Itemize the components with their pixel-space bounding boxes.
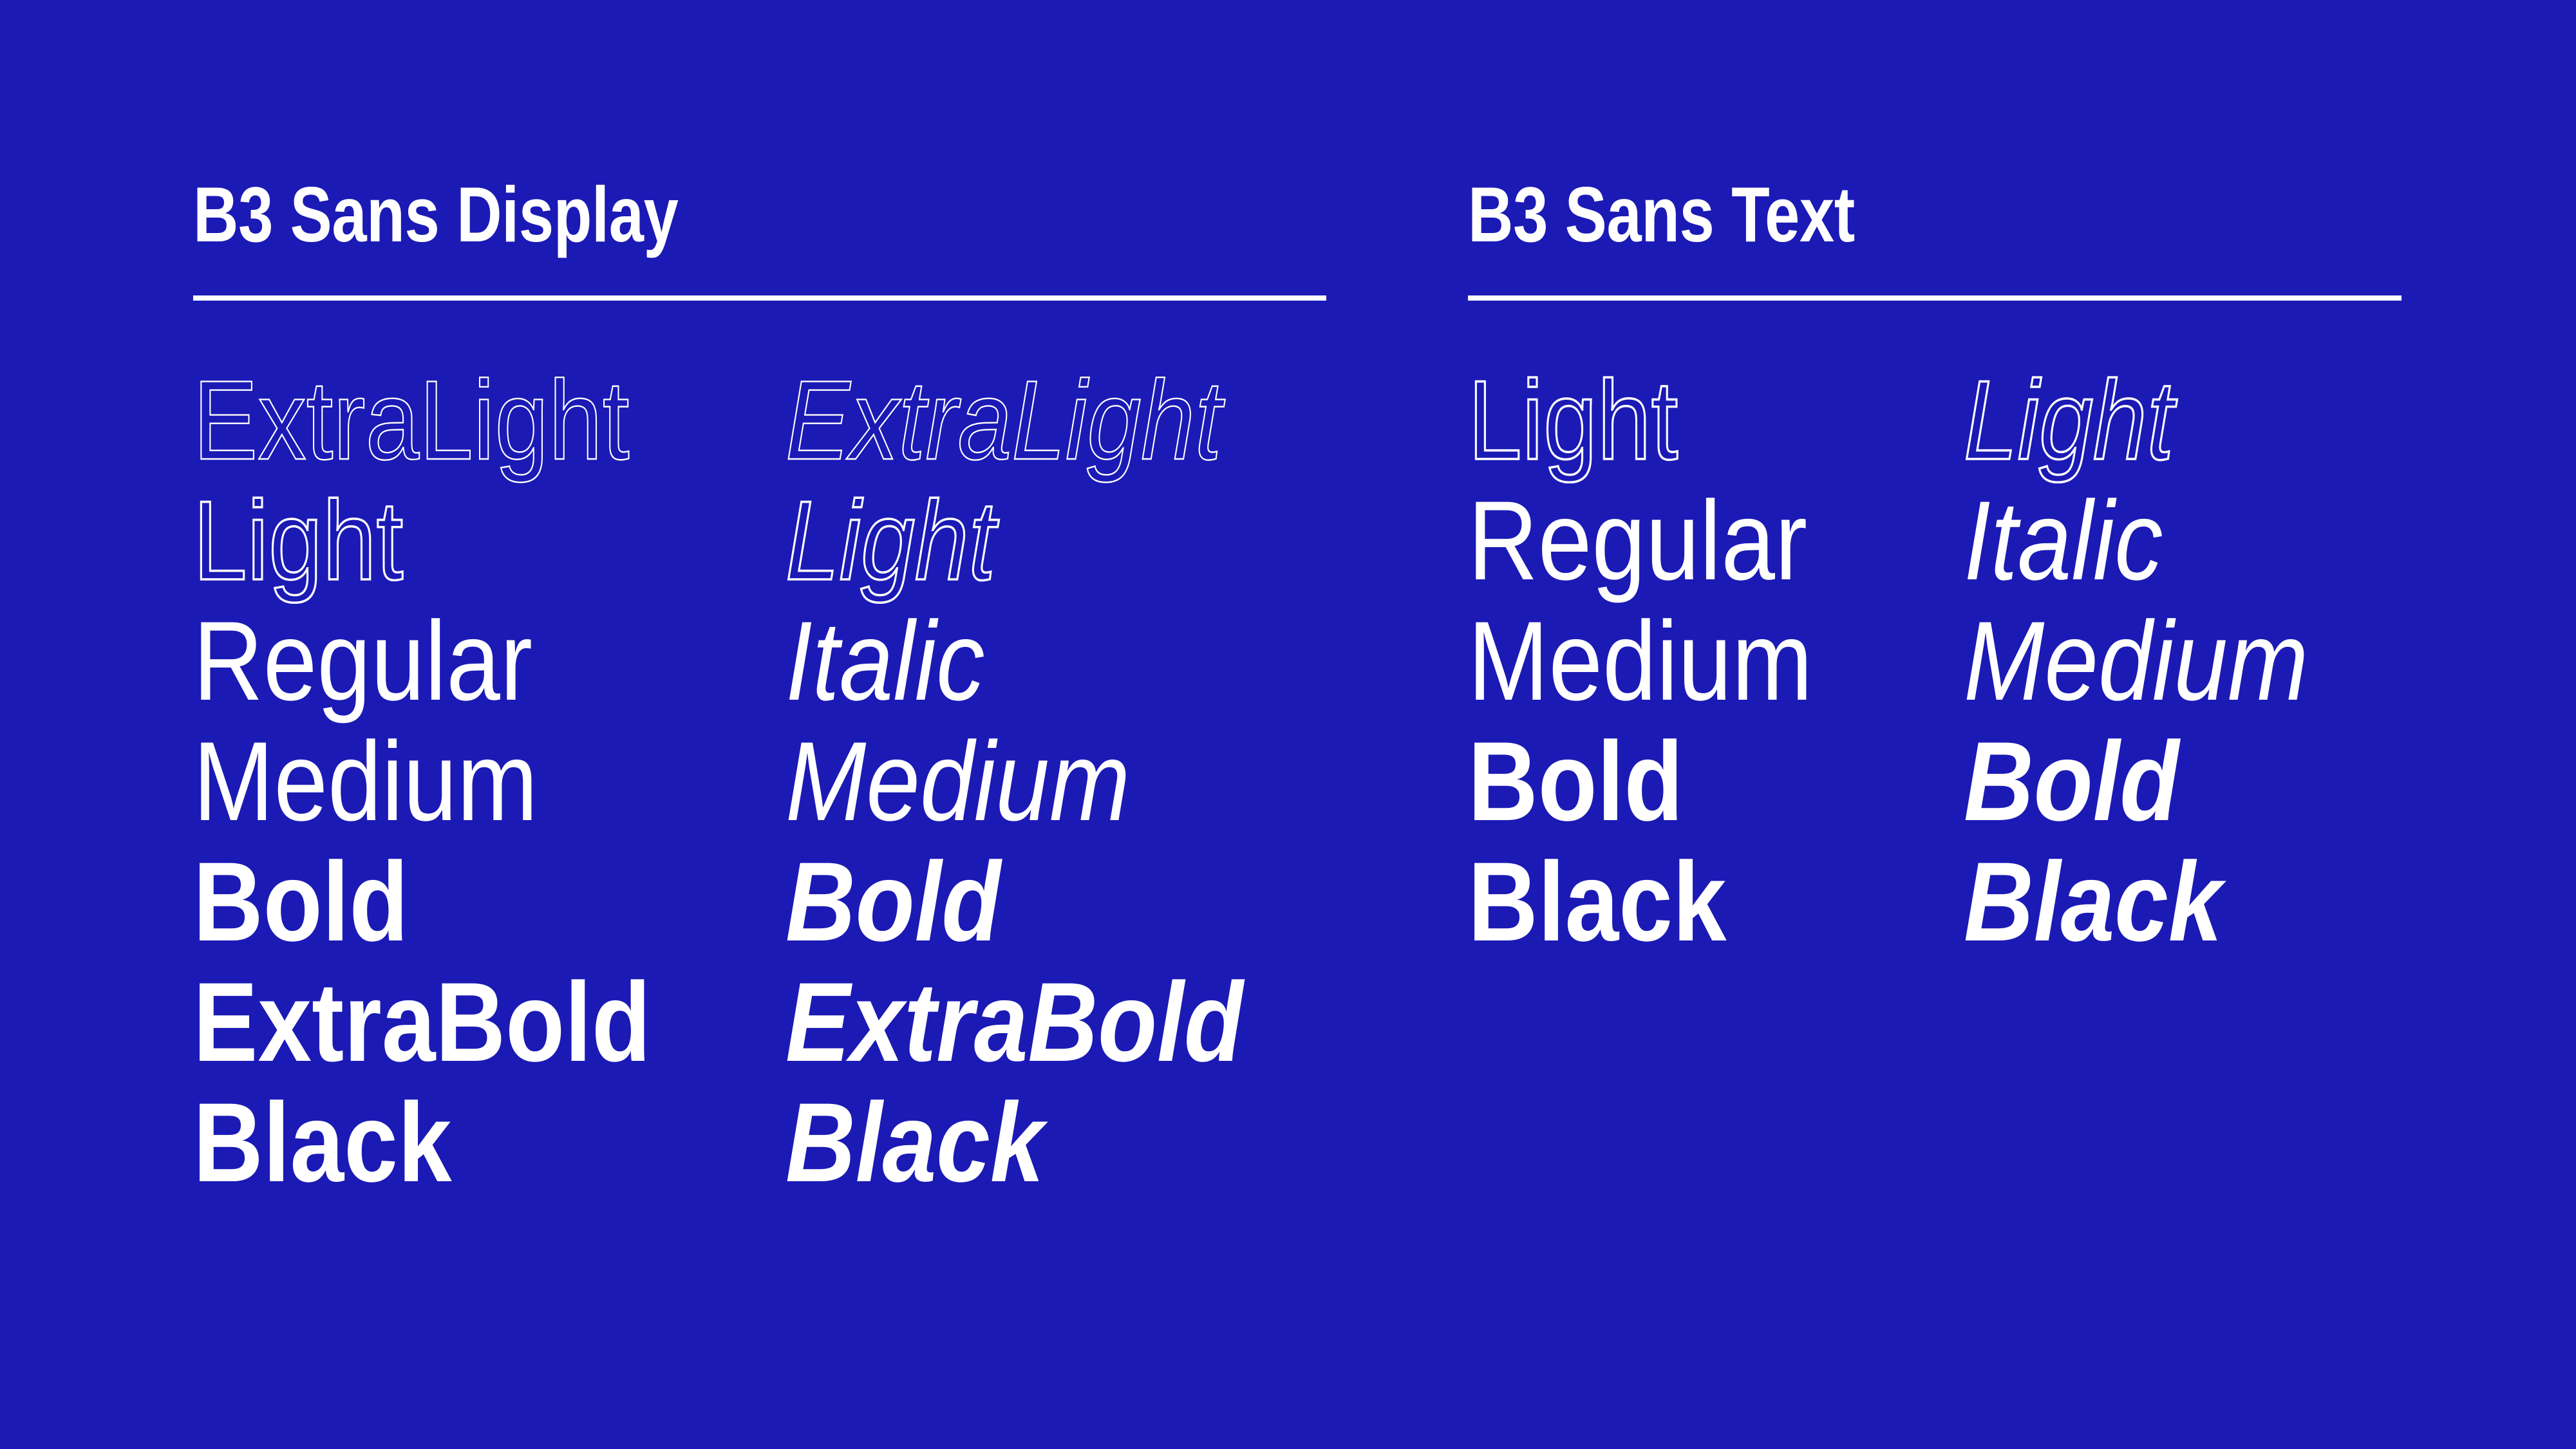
- weight-sample-text-italic-italic: Italic: [1964, 481, 2340, 601]
- weight-sample-display-roman-bold: Bold: [193, 842, 702, 962]
- section-divider-text: [1468, 295, 2402, 301]
- weight-sample-display-italic-bold: Bold: [785, 842, 1250, 962]
- weight-sample-display-italic-extralight: ExtraLight: [785, 360, 1250, 481]
- specimen-canvas: B3 Sans Display ExtraLight ExtraLight Li…: [0, 0, 2576, 1449]
- weight-sample-display-roman-black: Black: [193, 1083, 702, 1203]
- weight-sample-text-roman-black: Black: [1468, 842, 1894, 962]
- weight-sample-display-italic-light: Light: [785, 481, 1250, 601]
- section-heading-text: B3 Sans Text: [1468, 175, 1855, 254]
- section-divider-display: [193, 295, 1326, 301]
- weight-sample-text-italic-black: Black: [1964, 842, 2340, 962]
- weight-sample-display-italic-black: Black: [785, 1083, 1250, 1203]
- weight-sample-text-roman-bold: Bold: [1468, 722, 1894, 842]
- section-heading-display: B3 Sans Display: [193, 175, 678, 254]
- weight-sample-text-italic-bold: Bold: [1964, 722, 2340, 842]
- specimen-section-display: B3 Sans Display ExtraLight ExtraLight Li…: [193, 0, 1326, 1449]
- specimen-section-text: B3 Sans Text Light Light Regular Italic …: [1468, 0, 2402, 1449]
- weight-sample-display-roman-light: Light: [193, 481, 702, 601]
- weight-sample-text-italic-light: Light: [1964, 360, 2340, 481]
- weight-sample-text-italic-medium: Medium: [1964, 601, 2340, 722]
- weight-grid-display: ExtraLight ExtraLight Light Light Regula…: [193, 360, 1326, 1203]
- weight-sample-display-roman-regular: Regular: [193, 601, 702, 722]
- weight-sample-display-roman-extrabold: ExtraBold: [193, 962, 702, 1083]
- weight-grid-text: Light Light Regular Italic Medium Medium…: [1468, 360, 2402, 962]
- weight-sample-text-roman-regular: Regular: [1468, 481, 1894, 601]
- weight-sample-display-italic-medium: Medium: [785, 722, 1250, 842]
- weight-sample-text-roman-medium: Medium: [1468, 601, 1894, 722]
- weight-sample-display-roman-extralight: ExtraLight: [193, 360, 702, 481]
- weight-sample-display-italic-extrabold: ExtraBold: [785, 962, 1250, 1083]
- weight-sample-display-roman-medium: Medium: [193, 722, 702, 842]
- weight-sample-text-roman-light: Light: [1468, 360, 1894, 481]
- weight-sample-display-italic-italic: Italic: [785, 601, 1250, 722]
